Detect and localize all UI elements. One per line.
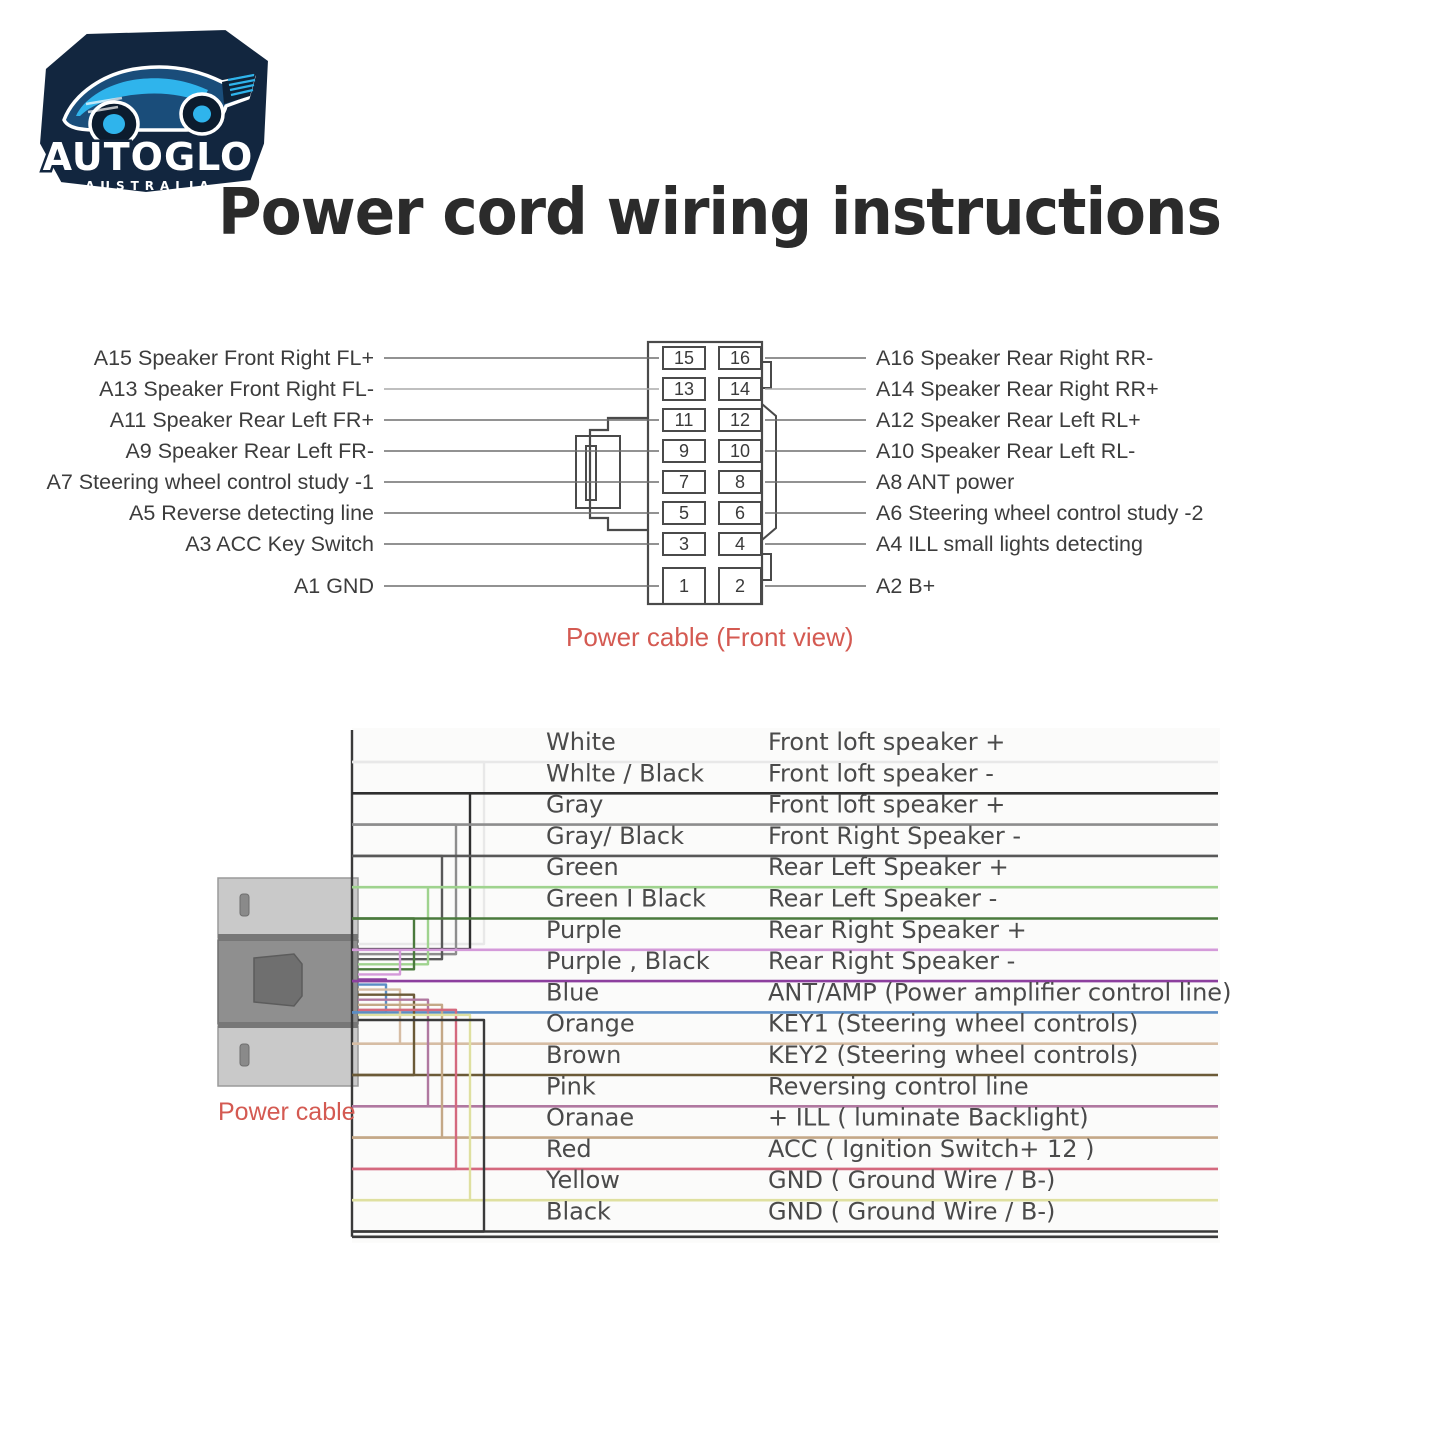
pin-number: 11 xyxy=(675,410,694,430)
pin-label: A5 Reverse detecting line xyxy=(129,501,374,525)
connector-caption: Power cable (Front view) xyxy=(566,622,854,653)
pin-label: A1 GND xyxy=(294,574,374,598)
wire-function: + ILL ( luminate Backlight) xyxy=(768,1104,1089,1132)
wire-function: ACC ( Ignition Switch+ 12 ) xyxy=(768,1135,1095,1163)
wire-color-name: Gray/ Black xyxy=(546,822,684,850)
wire-color-name: Whlte / Black xyxy=(546,759,704,787)
pin-label: A15 Speaker Front Right FL+ xyxy=(94,346,374,370)
pin-number: 7 xyxy=(679,472,689,492)
connector-slot-bottom xyxy=(240,1044,249,1066)
wire-color-name: Pink xyxy=(546,1072,596,1100)
wire-color-name: Orange xyxy=(546,1010,635,1038)
wire-function: Front Right Speaker - xyxy=(768,822,1021,850)
logo-wordmark: AUTOGLO xyxy=(43,135,254,179)
pin-number: 4 xyxy=(735,534,745,554)
wire-color-name: Gray xyxy=(546,791,603,819)
page-title: Power cord wiring instructions xyxy=(218,176,1221,250)
wire-color-name: Purple , Black xyxy=(546,947,710,975)
wire-color-name: Brown xyxy=(546,1041,621,1069)
connector-seam-top xyxy=(218,934,358,940)
logo-subtext: AUSTRALIA xyxy=(85,179,214,193)
connector-seam-bottom xyxy=(218,1022,358,1028)
connector-lower-shell xyxy=(218,1026,358,1086)
wire-color-name: Yellow xyxy=(545,1166,620,1194)
pin-label: A10 Speaker Rear Left RL- xyxy=(876,439,1135,463)
wire-function: KEY1 (Steering wheel controls) xyxy=(768,1010,1138,1038)
wire-color-name: Green I Black xyxy=(546,885,706,913)
pin-label: A2 B+ xyxy=(876,574,935,598)
wire-function: KEY2 (Steering wheel controls) xyxy=(768,1041,1138,1069)
pin-number: 13 xyxy=(674,379,694,399)
wire-function: ANT/AMP (Power amplifier control line) xyxy=(768,978,1231,1006)
pin-number: 12 xyxy=(730,410,750,430)
connector-pinout-diagram: 15A15 Speaker Front Right FL+13A13 Speak… xyxy=(0,320,1445,670)
pin-number: 15 xyxy=(674,348,694,368)
wiring-instruction-sheet: AUTOGLO AUSTRALIA Power cord wiring inst… xyxy=(0,0,1445,1445)
wire-color-name: Red xyxy=(546,1135,592,1163)
pin-number: 5 xyxy=(679,503,689,523)
pin-label: A6 Steering wheel control study -2 xyxy=(876,501,1203,525)
svg-text:AUTOGLO: AUTOGLO xyxy=(43,135,254,179)
wire-function: Front loft speaker + xyxy=(768,728,1005,756)
wire-color-name: Green xyxy=(546,853,619,881)
wire-function: Rear Right Speaker + xyxy=(768,916,1027,944)
pin-number: 14 xyxy=(730,379,750,399)
connector-upper-shell xyxy=(218,878,358,938)
pin-number: 9 xyxy=(679,441,689,461)
pin-number: 3 xyxy=(679,534,689,554)
pin-label: A3 ACC Key Switch xyxy=(185,532,374,556)
wire-color-name: Black xyxy=(546,1198,611,1226)
wire-function: Rear Left Speaker - xyxy=(768,885,997,913)
pin-label: A8 ANT power xyxy=(876,470,1014,494)
pin-number: 16 xyxy=(730,348,750,368)
pin-label: A7 Steering wheel control study -1 xyxy=(47,470,374,494)
power-cable-label: Power cable xyxy=(218,1098,356,1127)
wire-color-table: WhiteFront loft speaker +Whlte / BlackFr… xyxy=(0,700,1445,1280)
wire-function: Front loft speaker + xyxy=(768,791,1005,819)
pin-number: 10 xyxy=(730,441,750,461)
connector-latch xyxy=(254,954,302,1006)
pin-label: A13 Speaker Front Right FL- xyxy=(99,377,374,401)
pin-label: A11 Speaker Rear Left FR+ xyxy=(110,408,374,432)
wire-function: Reversing control line xyxy=(768,1072,1029,1100)
pin-label: A14 Speaker Rear Right RR+ xyxy=(876,377,1159,401)
pin-number: 2 xyxy=(735,576,745,596)
wire-color-name: Oranae xyxy=(546,1104,634,1132)
pin-label: A16 Speaker Rear Right RR- xyxy=(876,346,1153,370)
wire-function: Front loft speaker - xyxy=(768,759,994,787)
wire-function: Rear Right Speaker - xyxy=(768,947,1015,975)
pin-number: 1 xyxy=(679,576,689,596)
wire-function: Rear Left Speaker + xyxy=(768,853,1009,881)
wire-function: GND ( Ground Wire / B-) xyxy=(768,1198,1055,1226)
wire-color-name: Purple xyxy=(546,916,622,944)
connector-slot-top xyxy=(240,894,249,916)
wire-color-name: White xyxy=(546,728,616,756)
svg-text:AUSTRALIA: AUSTRALIA xyxy=(85,179,214,193)
wire-function: GND ( Ground Wire / B-) xyxy=(768,1166,1055,1194)
pin-label: A9 Speaker Rear Left FR- xyxy=(125,439,374,463)
pin-number: 8 xyxy=(735,472,745,492)
pin-number: 6 xyxy=(735,503,745,523)
pin-label: A4 ILL small lights detecting xyxy=(876,532,1143,556)
wire-color-name: Blue xyxy=(546,978,599,1006)
pin-label: A12 Speaker Rear Left RL+ xyxy=(876,408,1141,432)
